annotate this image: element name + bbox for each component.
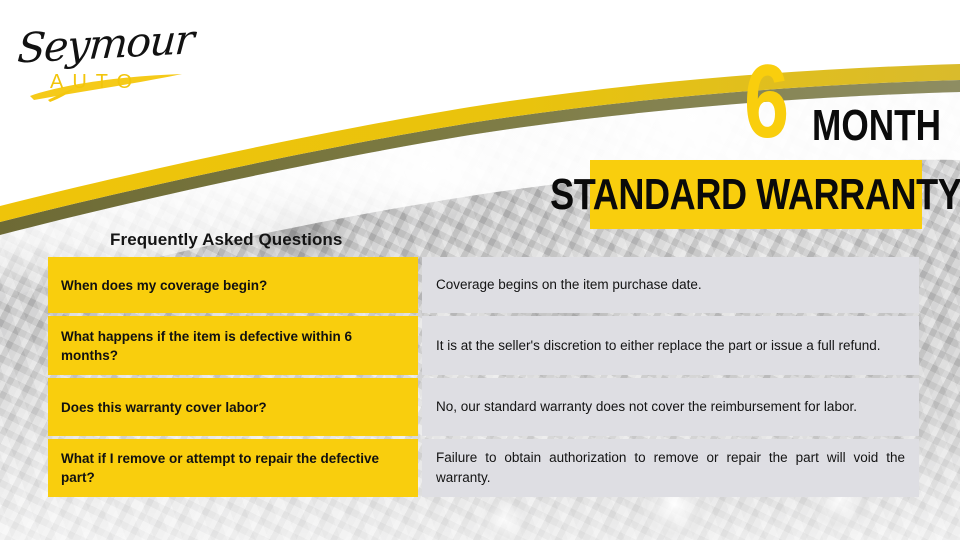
faq-answer-cell: Failure to obtain authorization to remov… — [422, 439, 919, 497]
standard-warranty-label: STANDARD WARRANTY — [550, 173, 960, 217]
logo-subtext: AUTO — [50, 71, 141, 94]
standard-warranty-banner: STANDARD WARRANTY — [590, 160, 922, 229]
faq-answer-cell: Coverage begins on the item purchase dat… — [422, 257, 919, 313]
faq-question-text: When does my coverage begin? — [61, 276, 267, 295]
logo-wordmark: Seymour — [16, 15, 195, 72]
faq-answer-cell: No, our standard warranty does not cover… — [422, 378, 919, 436]
faq-question-text: Does this warranty cover labor? — [61, 398, 267, 417]
seymour-auto-logo: Seymour AUTO — [14, 14, 194, 114]
warranty-duration-unit: MONTH — [812, 104, 941, 148]
warranty-duration-number: 6 — [744, 50, 788, 154]
table-row: What happens if the item is defective wi… — [48, 316, 919, 375]
faq-heading: Frequently Asked Questions — [110, 230, 342, 250]
faq-answer-text: It is at the seller's discretion to eith… — [436, 336, 905, 356]
faq-question-cell: When does my coverage begin? — [48, 257, 418, 313]
table-row: Does this warranty cover labor? No, our … — [48, 378, 919, 436]
table-row: When does my coverage begin? Coverage be… — [48, 257, 919, 313]
faq-answer-cell: It is at the seller's discretion to eith… — [422, 316, 919, 375]
faq-answer-text: Coverage begins on the item purchase dat… — [436, 275, 905, 295]
faq-question-cell: What if I remove or attempt to repair th… — [48, 439, 418, 497]
faq-table: When does my coverage begin? Coverage be… — [48, 257, 919, 497]
faq-question-cell: Does this warranty cover labor? — [48, 378, 418, 436]
warranty-faq-slide: Seymour AUTO 6 MONTH STANDARD WARRANTY F… — [0, 0, 960, 540]
faq-answer-text: Failure to obtain authorization to remov… — [436, 448, 905, 488]
faq-answer-text: No, our standard warranty does not cover… — [436, 397, 905, 417]
table-row: What if I remove or attempt to repair th… — [48, 439, 919, 497]
faq-question-text: What happens if the item is defective wi… — [61, 327, 406, 365]
faq-question-cell: What happens if the item is defective wi… — [48, 316, 418, 375]
faq-question-text: What if I remove or attempt to repair th… — [61, 449, 406, 487]
